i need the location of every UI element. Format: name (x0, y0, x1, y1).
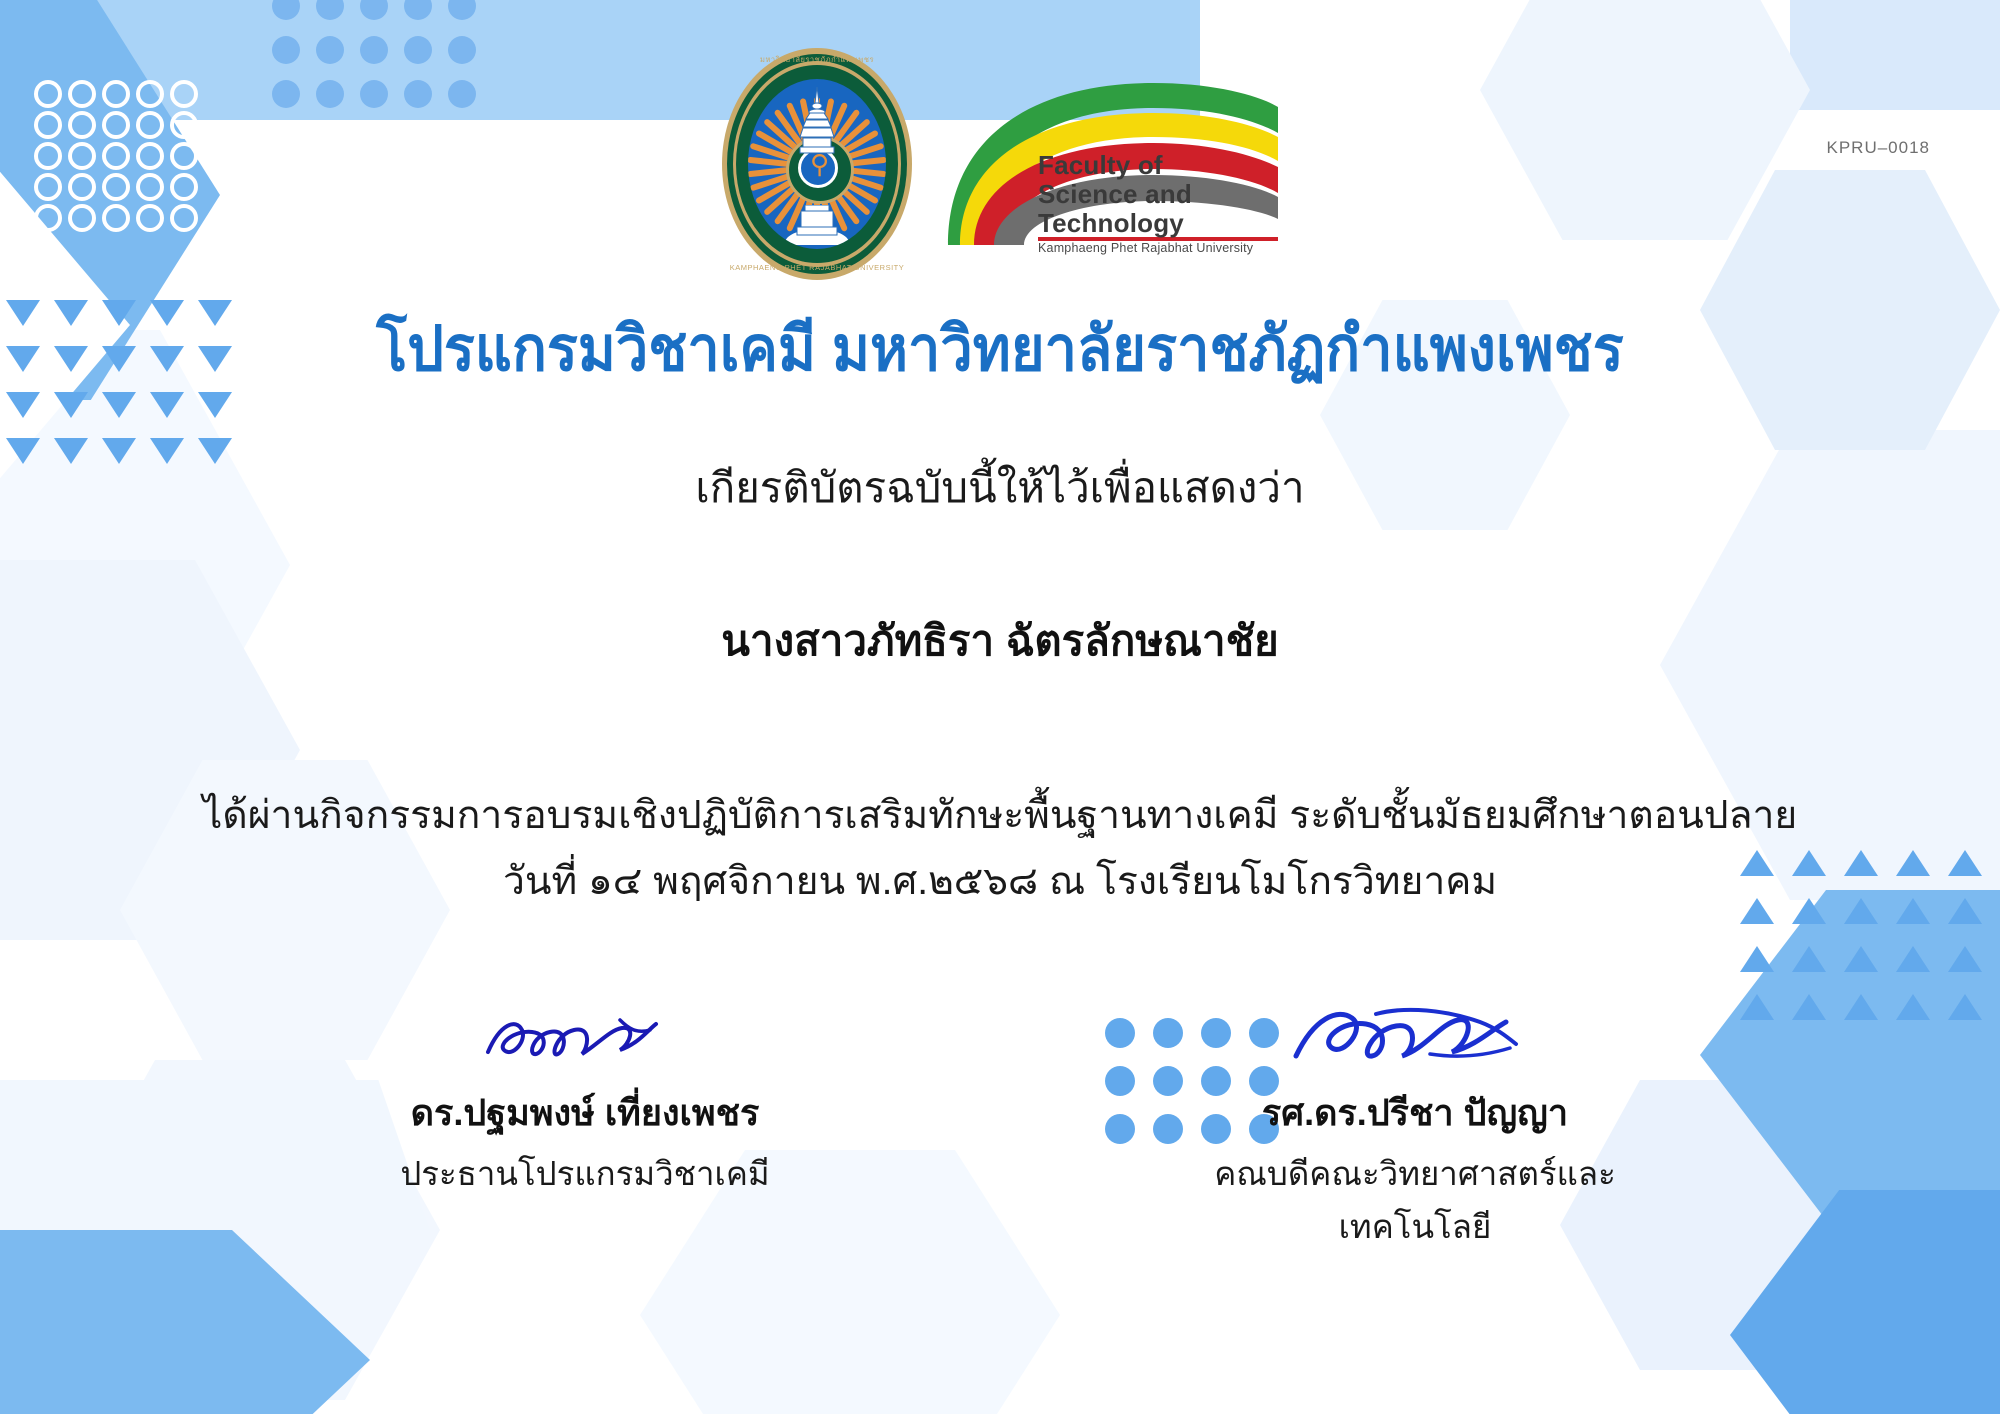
kpru-seal-icon: ⚲ มหาวิทยาลัยราชภัฏกำแพงเพชร KAMPHAENG P… (722, 48, 912, 280)
signature-mark-right (1165, 1000, 1665, 1080)
faculty-logo: Faculty of Science and Technology Kampha… (938, 77, 1278, 252)
faculty-line-3: Kamphaeng Phet Rajabhat University (1038, 241, 1278, 255)
signatory-role: คณบดีคณะวิทยาศาสตร์และเทคโนโลยี (1165, 1147, 1665, 1253)
faculty-line-2: Science and Technology (1038, 180, 1278, 238)
faculty-line-1: Faculty of (1038, 151, 1278, 180)
signature-mark-left (335, 1000, 835, 1080)
certificate-page: KPRU–0018 (0, 0, 2000, 1414)
signatory-role: ประธานโปรแกรมวิชาเคมี (335, 1147, 835, 1200)
signature-block-right: รศ.ดร.ปรีชา ปัญญา คณบดีคณะวิทยาศาสตร์และ… (1165, 1000, 1665, 1253)
signatory-name: รศ.ดร.ปรีชา ปัญญา (1165, 1084, 1665, 1141)
signature-block-left: ดร.ปฐมพงษ์ เที่ยงเพชร ประธานโปรแกรมวิชาเ… (335, 1000, 835, 1253)
certificate-body-line-2: วันที่ ๑๔ พฤศจิกายน พ.ศ.๒๕๖๘ ณ โรงเรียนโ… (0, 850, 2000, 912)
seal-pedestal-icon (785, 205, 849, 245)
certificate-content: KPRU–0018 (0, 0, 2000, 1414)
recipient-name: นางสาวภัทธิรา ฉัตรลักษณาชัย (0, 608, 2000, 674)
seal-english-text: KAMPHAENG PHET RAJABHAT UNIVERSITY (722, 263, 912, 272)
seal-thai-text: มหาวิทยาลัยราชภัฏกำแพงเพชร (722, 54, 912, 66)
naga-emblem-icon: ⚲ (810, 152, 829, 178)
page-title: โปรแกรมวิชาเคมี มหาวิทยาลัยราชภัฏกำแพงเพ… (70, 300, 1930, 398)
logo-row: ⚲ มหาวิทยาลัยราชภัฏกำแพงเพชร KAMPHAENG P… (0, 48, 2000, 280)
signature-row: ดร.ปฐมพงษ์ เที่ยงเพชร ประธานโปรแกรมวิชาเ… (0, 1000, 2000, 1253)
certificate-subtitle: เกียรติบัตรฉบับนี้ให้ไว้เพื่อแสดงว่า (0, 455, 2000, 521)
certificate-body-line-1: ได้ผ่านกิจกรรมการอบรมเชิงปฏิบัติการเสริม… (0, 784, 2000, 846)
signatory-name: ดร.ปฐมพงษ์ เที่ยงเพชร (335, 1084, 835, 1141)
